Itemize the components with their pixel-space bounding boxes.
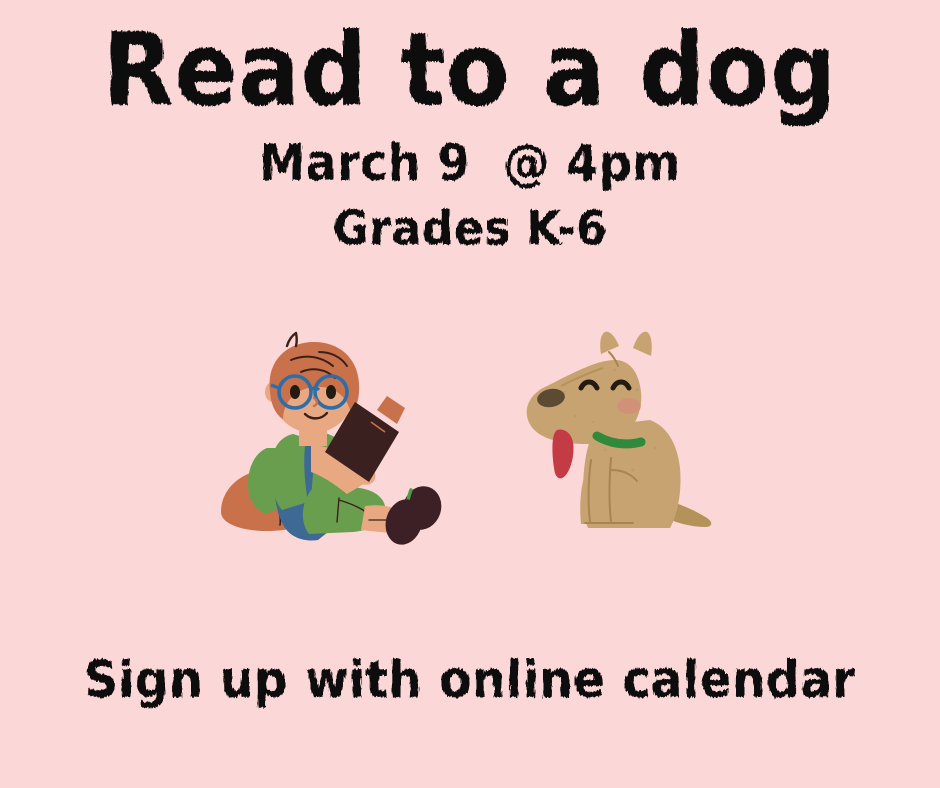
event-datetime: March 9 @ 4pm: [0, 110, 940, 188]
signup-call-to-action: Sign up with online calendar: [0, 655, 940, 706]
child-eye-left: [290, 385, 300, 399]
dog-tongue: [552, 430, 573, 479]
footer-block: Sign up with online calendar: [0, 655, 940, 702]
sitting-dog-illustration: [505, 330, 755, 555]
child-eye-right: [326, 385, 336, 399]
dog-ear-right: [633, 332, 652, 356]
page-title: Read to a dog: [0, 0, 940, 121]
dog-ear-left: [600, 332, 619, 354]
dog-blush: [617, 398, 641, 414]
child-reading-illustration: [215, 330, 455, 555]
book-pages: [377, 396, 405, 424]
event-grades: Grades K-6: [0, 182, 940, 253]
headline-block: Read to a dog March 9 @ 4pm Grades K-6: [0, 0, 940, 248]
poster-canvas: Read to a dog March 9 @ 4pm Grades K-6: [0, 0, 940, 788]
child-hair-tuft: [287, 333, 297, 346]
